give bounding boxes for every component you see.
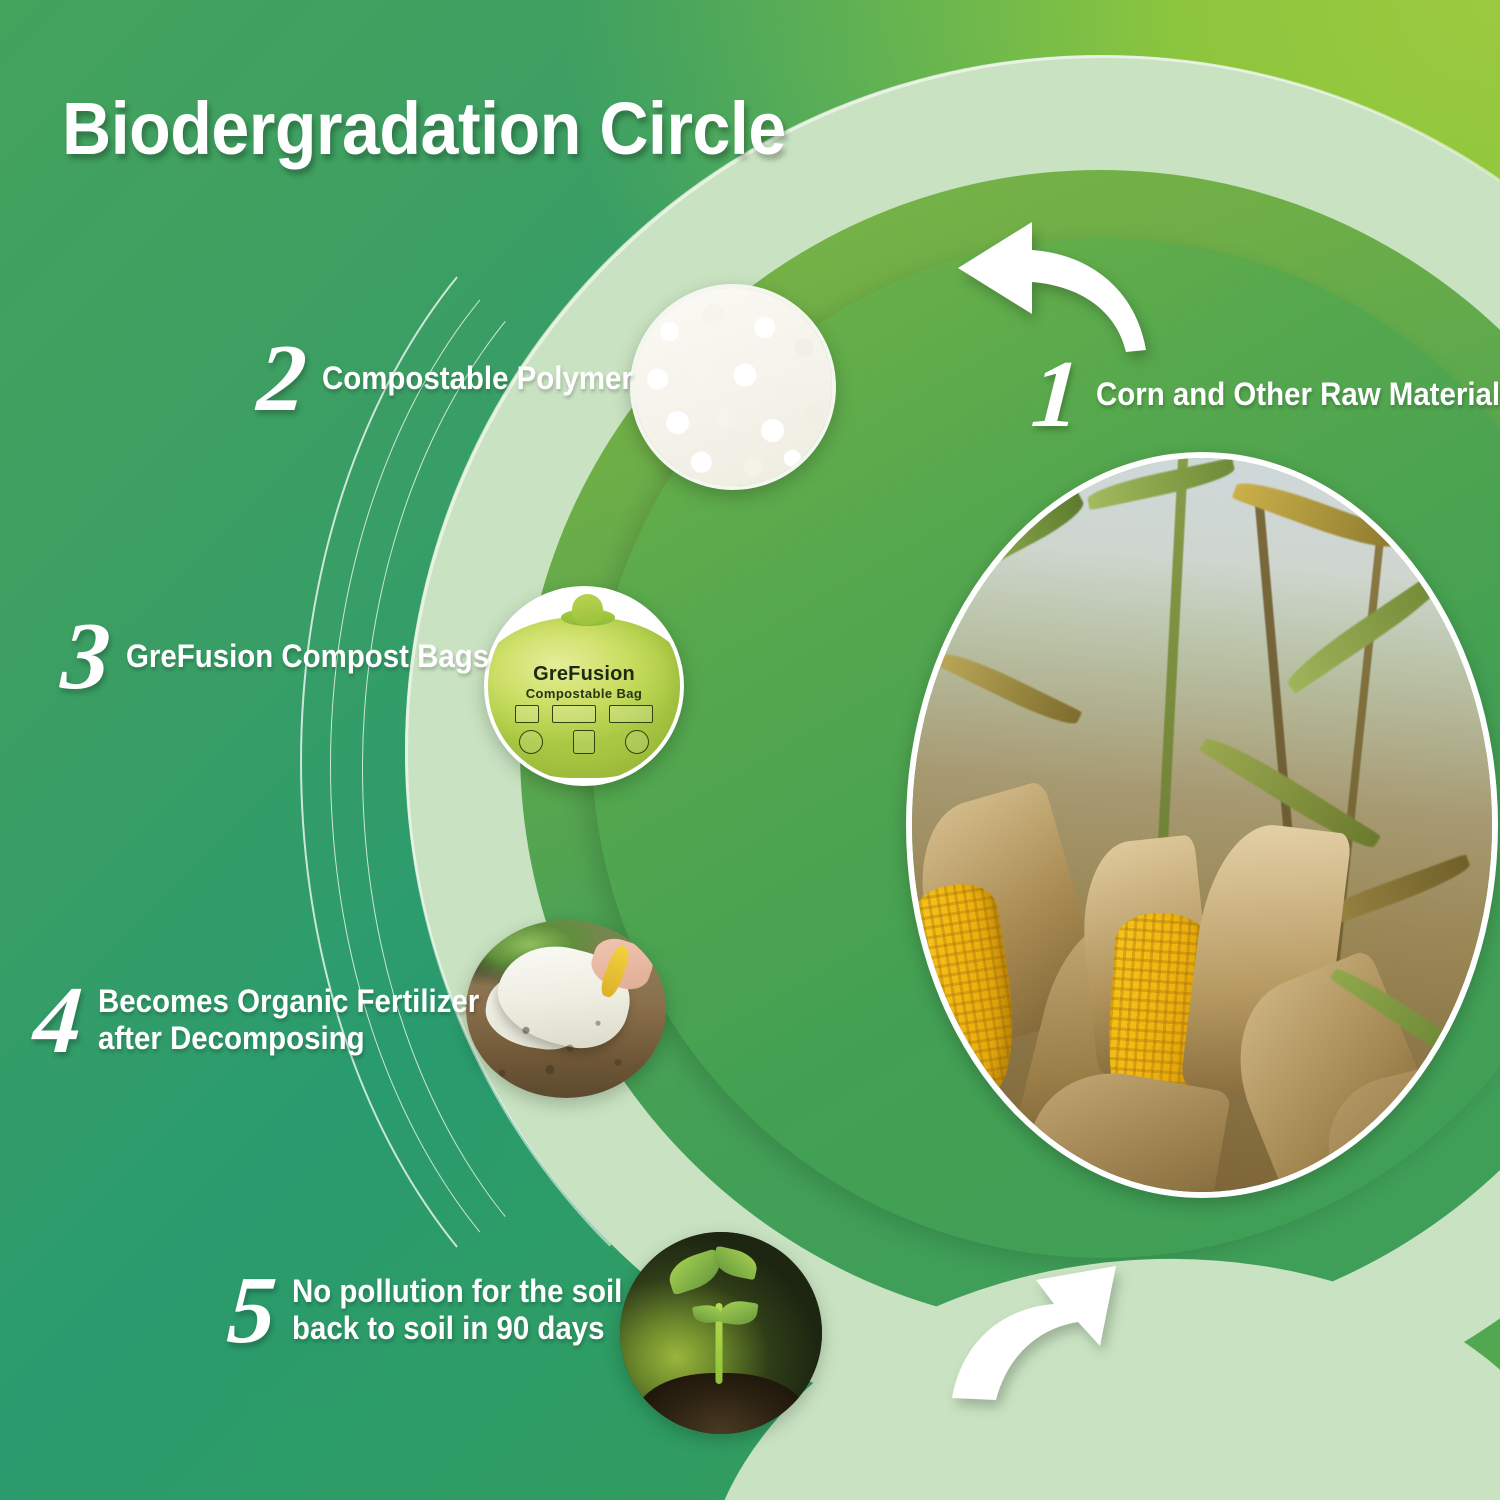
step-1-label: Corn and Other Raw Materials	[1096, 376, 1500, 414]
step-3-label-line-1: GreFusion Compost Bags	[126, 638, 489, 676]
bag-certification-row	[515, 705, 653, 723]
step-3-label: GreFusion Compost Bags	[126, 638, 489, 676]
arrow-top-left-icon	[940, 210, 1170, 360]
step-1-number: 1	[1029, 356, 1082, 433]
step-4-number: 4	[31, 982, 84, 1059]
seedling-mark-icon	[519, 730, 543, 754]
tuv-mark-icon	[609, 705, 653, 723]
step-2-label: Compostable Polymer	[322, 360, 633, 398]
step-5-label-line-2: back to soil in 90 days	[292, 1310, 622, 1348]
step-4-label: Becomes Organic Fertilizer after Decompo…	[98, 983, 479, 1059]
polymer-pellets-photo	[630, 284, 836, 490]
step-4: 4 Becomes Organic Fertilizer after Decom…	[34, 982, 512, 1059]
infographic-canvas: Biodergradation Circle Gr	[0, 0, 1500, 1500]
step-5: 5 No pollution for the soil back to soil…	[228, 1272, 651, 1349]
step-4-label-line-2: after Decomposing	[98, 1020, 479, 1058]
step-2-number: 2	[255, 340, 308, 417]
step-1-label-line-1: Corn and Other Raw Materials	[1096, 376, 1500, 414]
certification-label-icon	[552, 705, 596, 723]
arrow-bottom-right-icon	[950, 1260, 1130, 1410]
step-5-label-line-1: No pollution for the soil	[292, 1273, 622, 1311]
recycle-mark-icon	[515, 705, 539, 723]
step-5-number: 5	[225, 1272, 278, 1349]
step-3-number: 3	[59, 618, 112, 695]
step-2: 2 Compostable Polymer	[258, 340, 660, 417]
compost-home-icon	[573, 730, 595, 754]
page-title: Biodergradation Circle	[62, 86, 786, 171]
bag-certification-row-2	[519, 730, 650, 754]
step-2-label-line-1: Compostable Polymer	[322, 360, 633, 398]
ok-compost-icon	[625, 730, 649, 754]
corn-field-photo	[906, 452, 1498, 1198]
step-4-label-line-1: Becomes Organic Fertilizer	[98, 983, 479, 1021]
step-5-label: No pollution for the soil back to soil i…	[292, 1273, 622, 1349]
step-3: 3 GreFusion Compost Bags	[62, 618, 521, 695]
step-1: 1 Corn and Other Raw Materials	[1032, 356, 1500, 433]
